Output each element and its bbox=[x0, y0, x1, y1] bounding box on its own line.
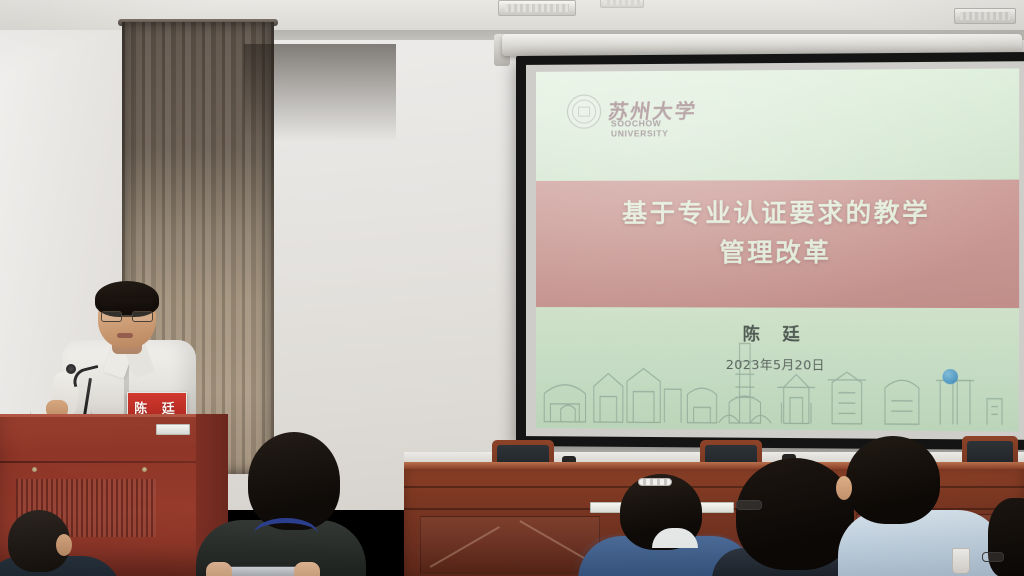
university-logo: 苏州大学 SOOCHOW UNIVERSITY bbox=[567, 94, 697, 129]
eyeglasses-icon bbox=[736, 500, 762, 510]
audience-hand bbox=[294, 562, 320, 576]
university-seal-icon bbox=[567, 95, 601, 129]
audience-hand bbox=[206, 562, 232, 576]
microphone-head-icon bbox=[66, 364, 76, 374]
audience-member-shoulders bbox=[838, 510, 1004, 576]
audience-member-head bbox=[248, 432, 340, 530]
ceiling-light-fixture bbox=[954, 8, 1016, 24]
eyeglasses-icon bbox=[101, 311, 153, 322]
ceiling-light-fixture bbox=[498, 0, 576, 16]
podium-screw bbox=[32, 467, 37, 472]
desk-name-tag bbox=[700, 502, 734, 513]
podium-screw bbox=[142, 467, 147, 472]
hair-clip bbox=[638, 478, 672, 486]
slide-title: 基于专业认证要求的教学 管理改革 bbox=[560, 194, 995, 273]
curtain-shading bbox=[244, 44, 396, 142]
podium-seam bbox=[0, 461, 222, 463]
phone-device bbox=[222, 566, 300, 576]
desk-front-panel bbox=[420, 516, 600, 574]
slide-title-line-2: 管理改革 bbox=[560, 233, 995, 272]
projection-screen-frame: 苏州大学 SOOCHOW UNIVERSITY 基于专业认证要求的教学 管理改革… bbox=[516, 52, 1024, 450]
ceiling-light-fixture bbox=[600, 0, 644, 8]
desk-name-tag bbox=[590, 502, 624, 513]
paper-cup bbox=[952, 548, 970, 574]
audience-member-head bbox=[846, 436, 940, 524]
presentation-slide: 苏州大学 SOOCHOW UNIVERSITY 基于专业认证要求的教学 管理改革… bbox=[536, 68, 1019, 431]
slide-title-line-1: 基于专业认证要求的教学 bbox=[560, 194, 995, 234]
eyeglasses-icon bbox=[982, 552, 1004, 562]
university-name-english: SOOCHOW UNIVERSITY bbox=[611, 118, 697, 139]
audience-member-head bbox=[736, 458, 854, 570]
accent-dot-icon bbox=[942, 369, 958, 384]
audience-member-ear bbox=[56, 534, 72, 556]
podium-label-tag bbox=[156, 424, 190, 435]
speaker-mouth bbox=[117, 333, 133, 338]
audience-member-ear bbox=[836, 476, 852, 500]
audience-member-head bbox=[988, 498, 1024, 576]
presentation-room-photo: 苏州大学 SOOCHOW UNIVERSITY 基于专业认证要求的教学 管理改革… bbox=[0, 0, 1024, 576]
